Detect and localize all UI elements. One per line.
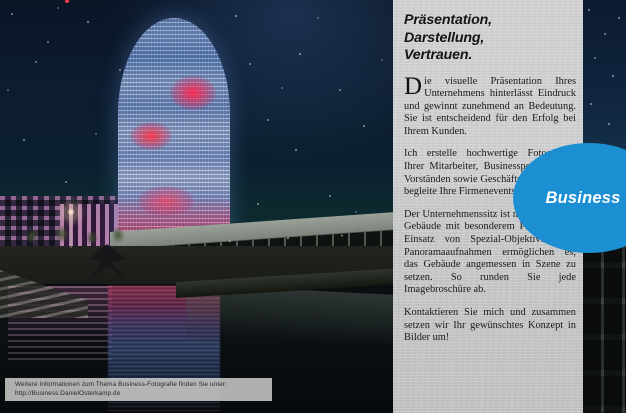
headline-line-2: Darstellung, — [404, 30, 576, 48]
text-panel: Präsentation, Darstellung, Vertrauen. Di… — [393, 0, 626, 413]
paragraph-1-text: ie visuelle Präsentation Ihres Unternehm… — [404, 76, 576, 137]
paragraph-4: Kontaktieren Sie mich und zusammen setze… — [404, 307, 576, 345]
business-badge-label: Business — [546, 189, 621, 208]
street-lamp — [70, 212, 72, 248]
page-root: Weitere Informationen zum Thema Business… — [0, 0, 626, 413]
agbar-tower-night-photo: Weitere Informationen zum Thema Business… — [0, 0, 393, 413]
page-title: Präsentation, Darstellung, Vertrauen. — [404, 12, 576, 65]
drop-cap: D — [404, 76, 423, 97]
tower-red-glow-top — [170, 76, 216, 110]
headline-line-1: Präsentation, — [404, 12, 576, 30]
caption-line-url[interactable]: http://Business.DanielOsterkamp.de — [15, 389, 272, 398]
caption-line-info: Weitere Informationen zum Thema Business… — [15, 380, 272, 389]
headline-line-3: Vertrauen. — [404, 47, 576, 65]
photo-caption-bar: Weitere Informationen zum Thema Business… — [5, 378, 272, 401]
tower-red-glow-mid — [130, 122, 172, 150]
paragraph-1: Die visuelle Präsentation Ihres Unterneh… — [404, 76, 576, 139]
tower-red-glow-low — [138, 186, 194, 216]
